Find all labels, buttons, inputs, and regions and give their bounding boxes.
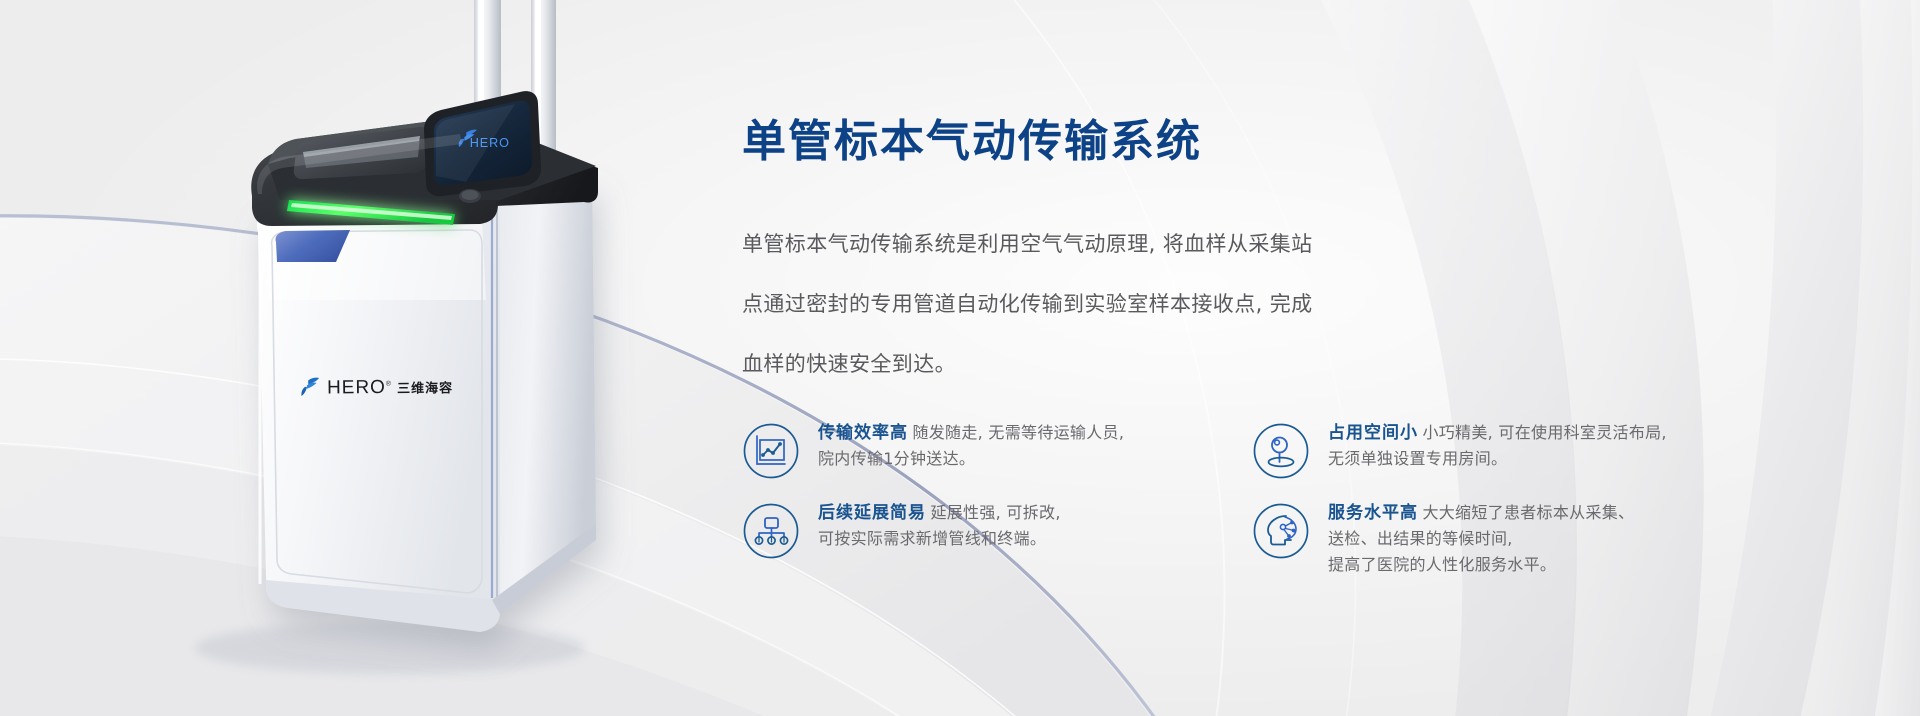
feature-text: 服务水平高 大大缩短了患者标本从采集、 送检、出结果的等候时间, 提高了医院的人… (1328, 498, 1634, 578)
feature-text: 传输效率高 随发随走, 无需等待运输人员, 院内传输1分钟送达。 (818, 418, 1124, 472)
feature-grid: 传输效率高 随发随走, 无需等待运输人员, 院内传输1分钟送达。 占用 (742, 418, 1752, 578)
intro-line-2: 点通过密封的专用管道自动化传输到实验室样本接收点, 完成 (742, 292, 1313, 316)
feature-item-easy-expansion: 后续延展简易 延展性强, 可拆改, 可按实际需求新增管线和终端。 (742, 498, 1232, 578)
feature-text: 后续延展简易 延展性强, 可拆改, 可按实际需求新增管线和终端。 (818, 498, 1061, 552)
intro-line-3: 血样的快速安全到达。 (742, 352, 956, 376)
space-pin-icon (1252, 422, 1310, 480)
network-topology-icon (742, 502, 800, 560)
product-image: HERO (0, 0, 760, 716)
page-title: 单管标本气动传输系统 (742, 105, 1202, 169)
smart-head-icon (1252, 502, 1310, 560)
intro-line-1: 单管标本气动传输系统是利用空气气动原理, 将血样从采集站 (742, 232, 1313, 256)
feature-item-transfer-efficiency: 传输效率高 随发随走, 无需等待运输人员, 院内传输1分钟送达。 (742, 418, 1232, 480)
feature-title: 占用空间小 (1328, 423, 1418, 443)
pneumatic-tube-station-illustration: HERO (0, 0, 760, 716)
feature-text: 占用空间小 小巧精美, 可在使用科室灵活布局, 无须单独设置专用房间。 (1328, 418, 1667, 472)
feature-title: 后续延展简易 (818, 503, 926, 523)
feature-item-service-level: 服务水平高 大大缩短了患者标本从采集、 送检、出结果的等候时间, 提高了医院的人… (1252, 498, 1742, 578)
feature-title: 传输效率高 (818, 423, 908, 443)
chart-growth-icon (742, 422, 800, 480)
feature-title: 服务水平高 (1328, 503, 1418, 523)
intro-paragraph: 单管标本气动传输系统是利用空气气动原理, 将血样从采集站 点通过密封的专用管道自… (742, 214, 1402, 394)
feature-item-small-footprint: 占用空间小 小巧精美, 可在使用科室灵活布局, 无须单独设置专用房间。 (1252, 418, 1742, 480)
content-column: 单管标本气动传输系统 单管标本气动传输系统是利用空气气动原理, 将血样从采集站 … (742, 0, 1802, 716)
banner-stage: HERO (0, 0, 1920, 716)
